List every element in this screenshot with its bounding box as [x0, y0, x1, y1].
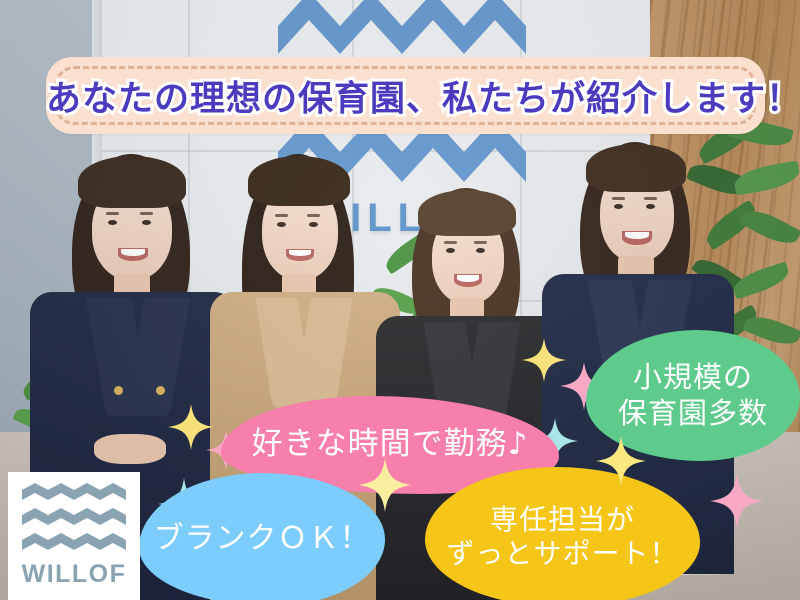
blob-yellow-text: 専任担当が ずっとサポート！: [436, 503, 688, 571]
headline-text: あなたの理想の保育園、私たちが紹介します！: [46, 70, 765, 121]
sparkle-icon: [710, 474, 764, 528]
poster-image: WILLOF: [0, 0, 800, 600]
willof-corner-logo: WILLOF: [8, 472, 140, 600]
sparkle-icon: [596, 436, 646, 486]
blob-blue-text: ブランクＯＫ！: [144, 521, 381, 558]
corner-logo-wordmark: WILLOF: [22, 560, 127, 589]
chevron-logo-icon: [22, 483, 126, 557]
blob-green-text: 小規模の 保育園多数: [608, 360, 778, 431]
headline-banner: あなたの理想の保育園、私たちが紹介します！: [46, 57, 765, 134]
sparkle-icon: [358, 458, 412, 512]
